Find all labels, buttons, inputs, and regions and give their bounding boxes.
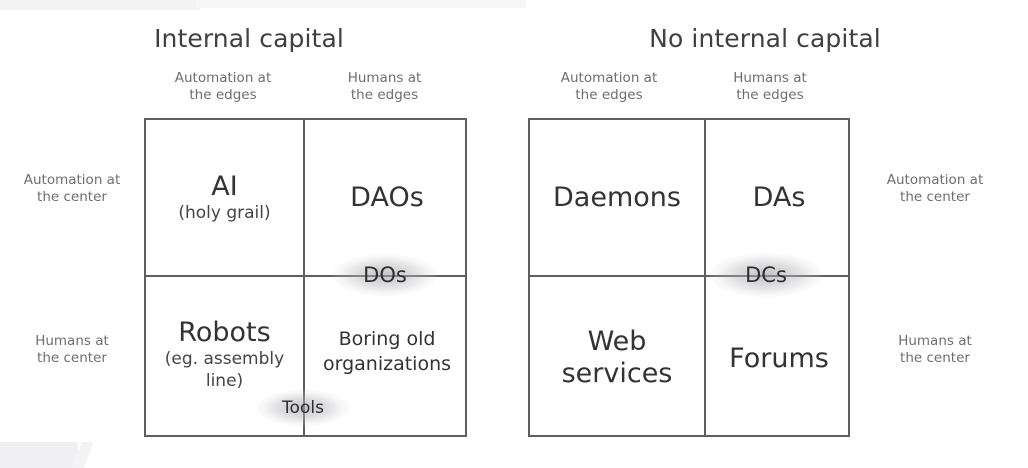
cell-web-services-label: Web services <box>530 326 704 390</box>
cell-daemons[interactable]: Daemons <box>530 120 704 275</box>
cell-daos[interactable]: DAOs <box>305 120 469 275</box>
cell-forums-label: Forums <box>706 343 852 374</box>
cell-robots-sublabel: (eg. assembly line) <box>146 348 303 392</box>
cell-robots-label: Robots <box>146 317 303 348</box>
panel-title-internal-capital: Internal capital <box>0 24 506 54</box>
background-artifact-bottom-left <box>0 442 78 468</box>
glow-label-dcs[interactable]: DCs <box>720 258 812 292</box>
cell-boring-old-organizations-label: Boring old organizations <box>305 327 469 377</box>
slide-canvas: Internal capital Automation at the edges… <box>0 0 1028 468</box>
cell-ai-sublabel: (holy grail) <box>146 202 303 224</box>
row-label-automation-center-left: Automation at the center <box>4 172 140 206</box>
glow-label-tools[interactable]: Tools <box>258 392 348 424</box>
row-label-automation-center-right: Automation at the center <box>860 172 1010 206</box>
glow-label-dos-text: DOs <box>363 263 407 287</box>
cell-daemons-label: Daemons <box>530 182 704 213</box>
col-header-humans-edges-left: Humans at the edges <box>302 70 467 104</box>
cell-das[interactable]: DAs <box>706 120 852 275</box>
col-header-automation-edges-right: Automation at the edges <box>528 70 690 104</box>
cell-web-services[interactable]: Web services <box>530 277 704 439</box>
cell-daos-label: DAOs <box>305 182 469 213</box>
glow-label-tools-text: Tools <box>282 398 324 418</box>
cell-forums[interactable]: Forums <box>706 277 852 439</box>
col-header-humans-edges-right: Humans at the edges <box>690 70 850 104</box>
cell-ai-label: AI <box>146 171 303 202</box>
cell-ai[interactable]: AI (holy grail) <box>146 120 303 275</box>
cell-das-label: DAs <box>706 182 852 213</box>
glow-label-dcs-text: DCs <box>745 263 787 287</box>
background-artifact-top-mid <box>196 0 526 8</box>
glow-label-dos[interactable]: DOs <box>338 258 432 292</box>
row-label-humans-center-right: Humans at the center <box>860 333 1010 367</box>
col-header-automation-edges-left: Automation at the edges <box>144 70 302 104</box>
background-artifact-top-left <box>0 0 200 10</box>
row-label-humans-center-left: Humans at the center <box>4 333 140 367</box>
panel-title-no-internal-capital: No internal capital <box>508 24 1022 54</box>
